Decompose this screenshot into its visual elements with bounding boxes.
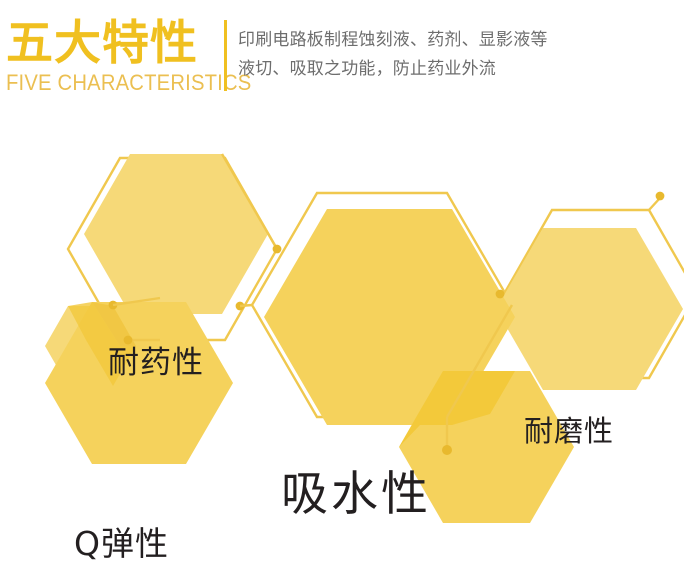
hexagon-label-drug-resistance: 耐药性: [108, 337, 204, 382]
header-description-line-2: 液切、吸取之功能，防止药业外流: [238, 55, 668, 84]
connector-dot-bottom-hex: [442, 445, 452, 455]
header-description-line-1: 印刷电路板制程蚀刻液、药剂、显影液等: [238, 26, 668, 55]
page-title: 五大特性: [6, 18, 218, 70]
header-banner: 五大特性 FIVE CHARACTERISTICS 印刷电路板制程蚀刻液、药剂、…: [0, 0, 684, 130]
connector-dot-wear-resistance-left: [496, 290, 505, 299]
hexagon-drug-resistance[interactable]: [84, 154, 268, 314]
page-subtitle: FIVE CHARACTERISTICS: [6, 71, 201, 95]
title-divider: [224, 20, 227, 91]
connector-dot-drug-resistance: [273, 245, 282, 254]
connector-line-water-absorption-left: [240, 305, 252, 306]
connector-dot-wear-resistance: [656, 192, 665, 201]
hexagon-label-wear-resistance: 耐磨性: [524, 408, 614, 450]
features-hexagon-diagram: 耐药性 Q弹性 吸水性 耐磨性: [0, 128, 684, 552]
hexagon-label-water-absorption: 吸水性: [281, 455, 431, 524]
title-block: 五大特性 FIVE CHARACTERISTICS: [6, 18, 218, 95]
header-description: 印刷电路板制程蚀刻液、药剂、显影液等 液切、吸取之功能，防止药业外流: [238, 26, 668, 84]
hexagon-label-q-elasticity: Q弹性: [74, 517, 169, 565]
